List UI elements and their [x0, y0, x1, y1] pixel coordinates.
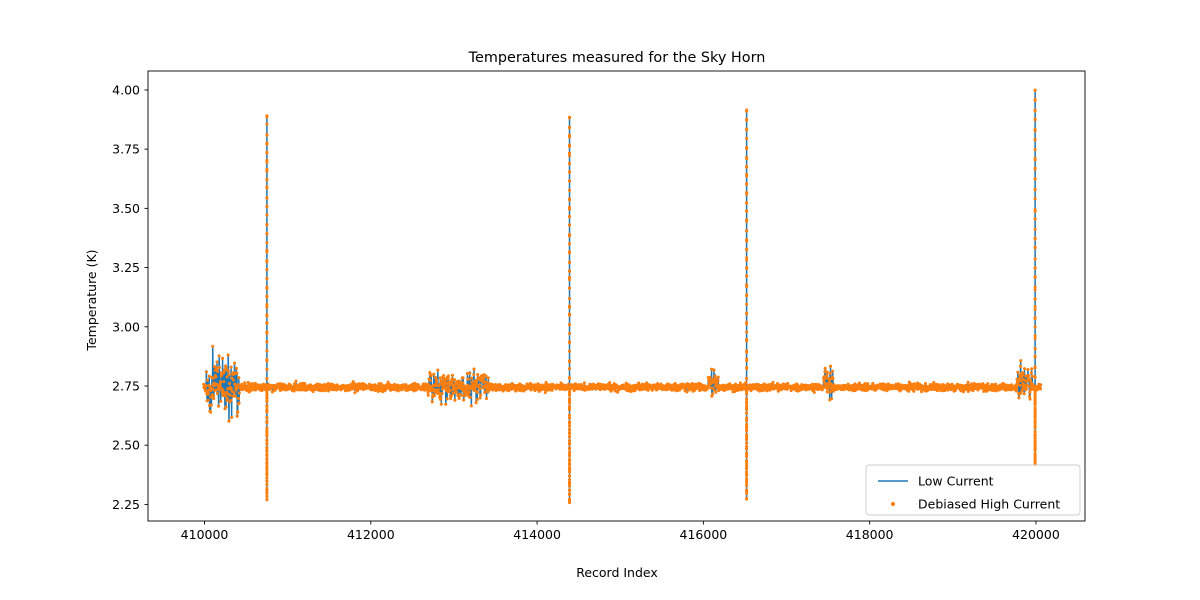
- y-tick-label: 2.25: [112, 497, 140, 512]
- x-tick-label: 412000: [347, 527, 395, 542]
- y-tick-label: 3.50: [112, 201, 140, 216]
- chart-legend[interactable]: Low CurrentDebiased High Current: [866, 465, 1080, 515]
- x-tick-label: 414000: [513, 527, 561, 542]
- x-axis-label: Record Index: [576, 565, 658, 580]
- y-tick-label: 3.25: [112, 260, 140, 275]
- y-tick-label: 3.75: [112, 142, 140, 157]
- x-tick-label: 416000: [680, 527, 728, 542]
- y-tick-label: 4.00: [112, 82, 140, 97]
- legend-entry-label: Debiased High Current: [918, 497, 1060, 512]
- chart-plot[interactable]: Temperatures measured for the Sky Horn 2…: [0, 0, 1200, 600]
- legend-entry-label: Low Current: [918, 474, 994, 489]
- y-axis-label: Temperature (K): [84, 249, 99, 351]
- x-tick-label: 418000: [846, 527, 894, 542]
- chart-title: Temperatures measured for the Sky Horn: [468, 50, 766, 66]
- x-tick-label: 410000: [181, 527, 229, 542]
- y-tick-label: 2.50: [112, 438, 140, 453]
- figure-canvas: Temperatures measured for the Sky Horn 2…: [0, 0, 1200, 600]
- x-tick-label: 420000: [1012, 527, 1060, 542]
- y-tick-label: 2.75: [112, 379, 140, 394]
- legend-dot-swatch: [891, 502, 895, 506]
- y-tick-label: 3.00: [112, 319, 140, 334]
